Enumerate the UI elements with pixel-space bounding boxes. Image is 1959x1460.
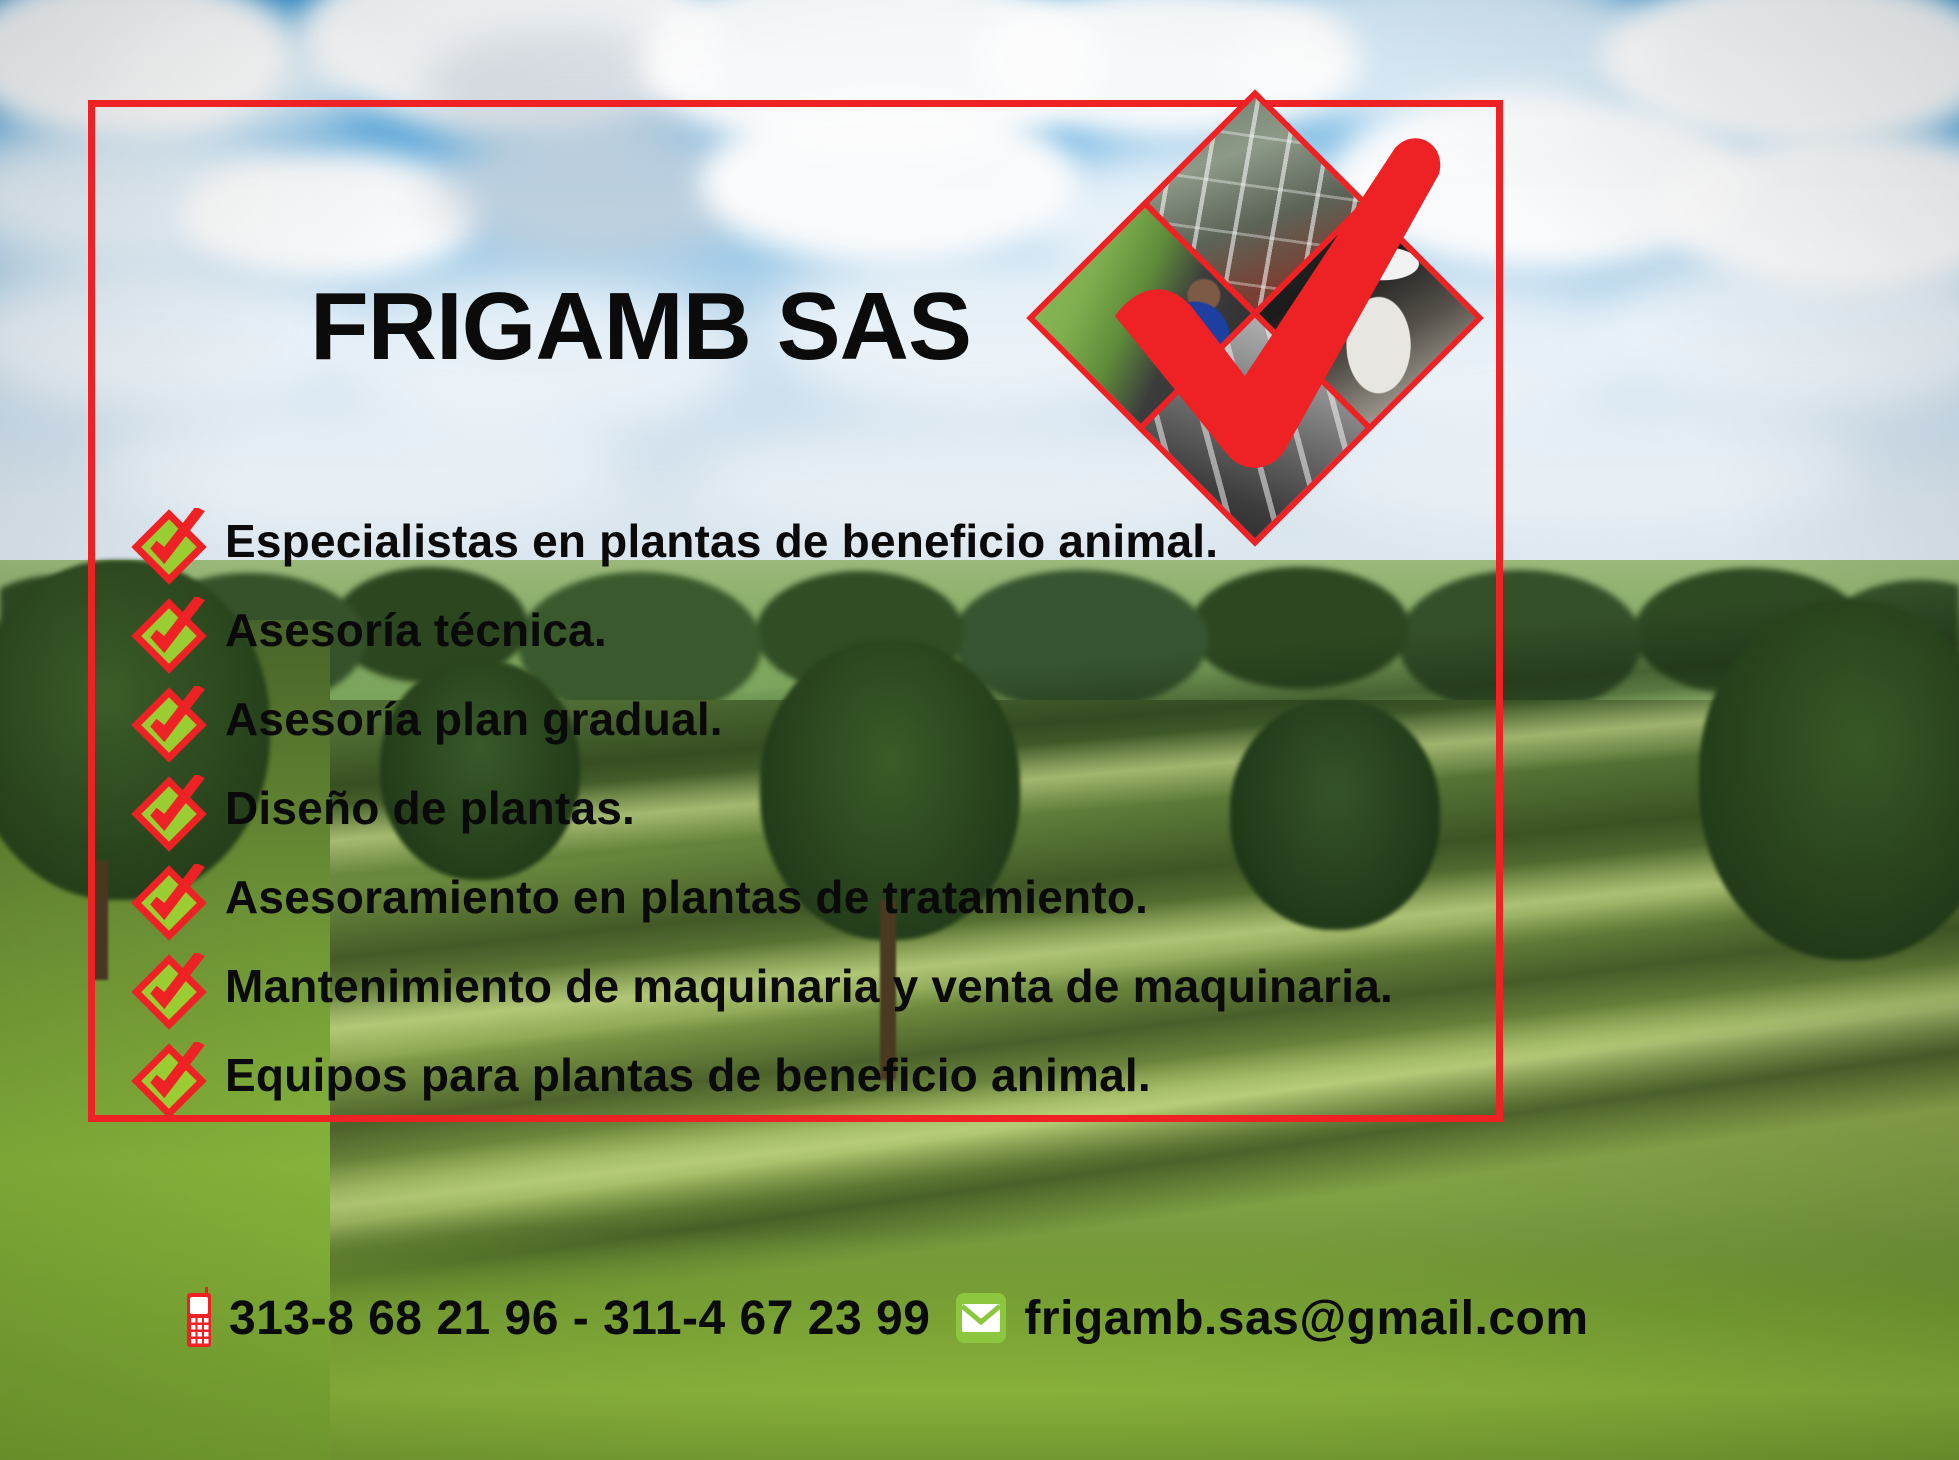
- check-diamond-icon: [130, 775, 208, 853]
- list-item: Especialistas en plantas de beneficio an…: [130, 508, 1490, 597]
- frigamb-logo: [1055, 118, 1455, 518]
- page-title: FRIGAMB SAS: [310, 272, 971, 382]
- list-item: Equipos para plantas de beneficio animal…: [130, 1042, 1490, 1131]
- list-item: Asesoría técnica.: [130, 597, 1490, 686]
- poster-content: FRIGAMB SAS Especialistas en plantas de …: [0, 0, 1959, 1460]
- check-diamond-icon: [130, 597, 208, 675]
- envelope-icon: [956, 1293, 1006, 1343]
- list-item: Diseño de plantas.: [130, 775, 1490, 864]
- list-item: Asesoría plan gradual.: [130, 686, 1490, 775]
- check-diamond-icon: [130, 1042, 208, 1120]
- list-item-label: Especialistas en plantas de beneficio an…: [225, 514, 1218, 568]
- list-item-label: Diseño de plantas.: [225, 781, 635, 835]
- check-diamond-icon: [130, 686, 208, 764]
- check-diamond-icon: [130, 864, 208, 942]
- red-check-icon: [1095, 138, 1455, 468]
- services-list: Especialistas en plantas de beneficio an…: [130, 508, 1490, 1131]
- list-item-label: Asesoramiento en plantas de tratamiento.: [225, 870, 1148, 924]
- contact-bar: 313-8 68 21 96 - 311-4 67 23 99 frigamb.…: [185, 1287, 1589, 1349]
- phone-numbers: 313-8 68 21 96 - 311-4 67 23 99: [229, 1291, 930, 1346]
- mobile-phone-icon: [185, 1287, 215, 1349]
- check-diamond-icon: [130, 508, 208, 586]
- list-item: Asesoramiento en plantas de tratamiento.: [130, 864, 1490, 953]
- list-item: Mantenimiento de maquinaria y venta de m…: [130, 953, 1490, 1042]
- list-item-label: Equipos para plantas de beneficio animal…: [225, 1048, 1151, 1102]
- list-item-label: Asesoría técnica.: [225, 603, 607, 657]
- check-diamond-icon: [130, 953, 208, 1031]
- list-item-label: Mantenimiento de maquinaria y venta de m…: [225, 959, 1393, 1013]
- email-address: frigamb.sas@gmail.com: [1024, 1291, 1588, 1346]
- poster-canvas: FRIGAMB SAS Especialistas en plantas de …: [0, 0, 1959, 1460]
- list-item-label: Asesoría plan gradual.: [225, 692, 723, 746]
